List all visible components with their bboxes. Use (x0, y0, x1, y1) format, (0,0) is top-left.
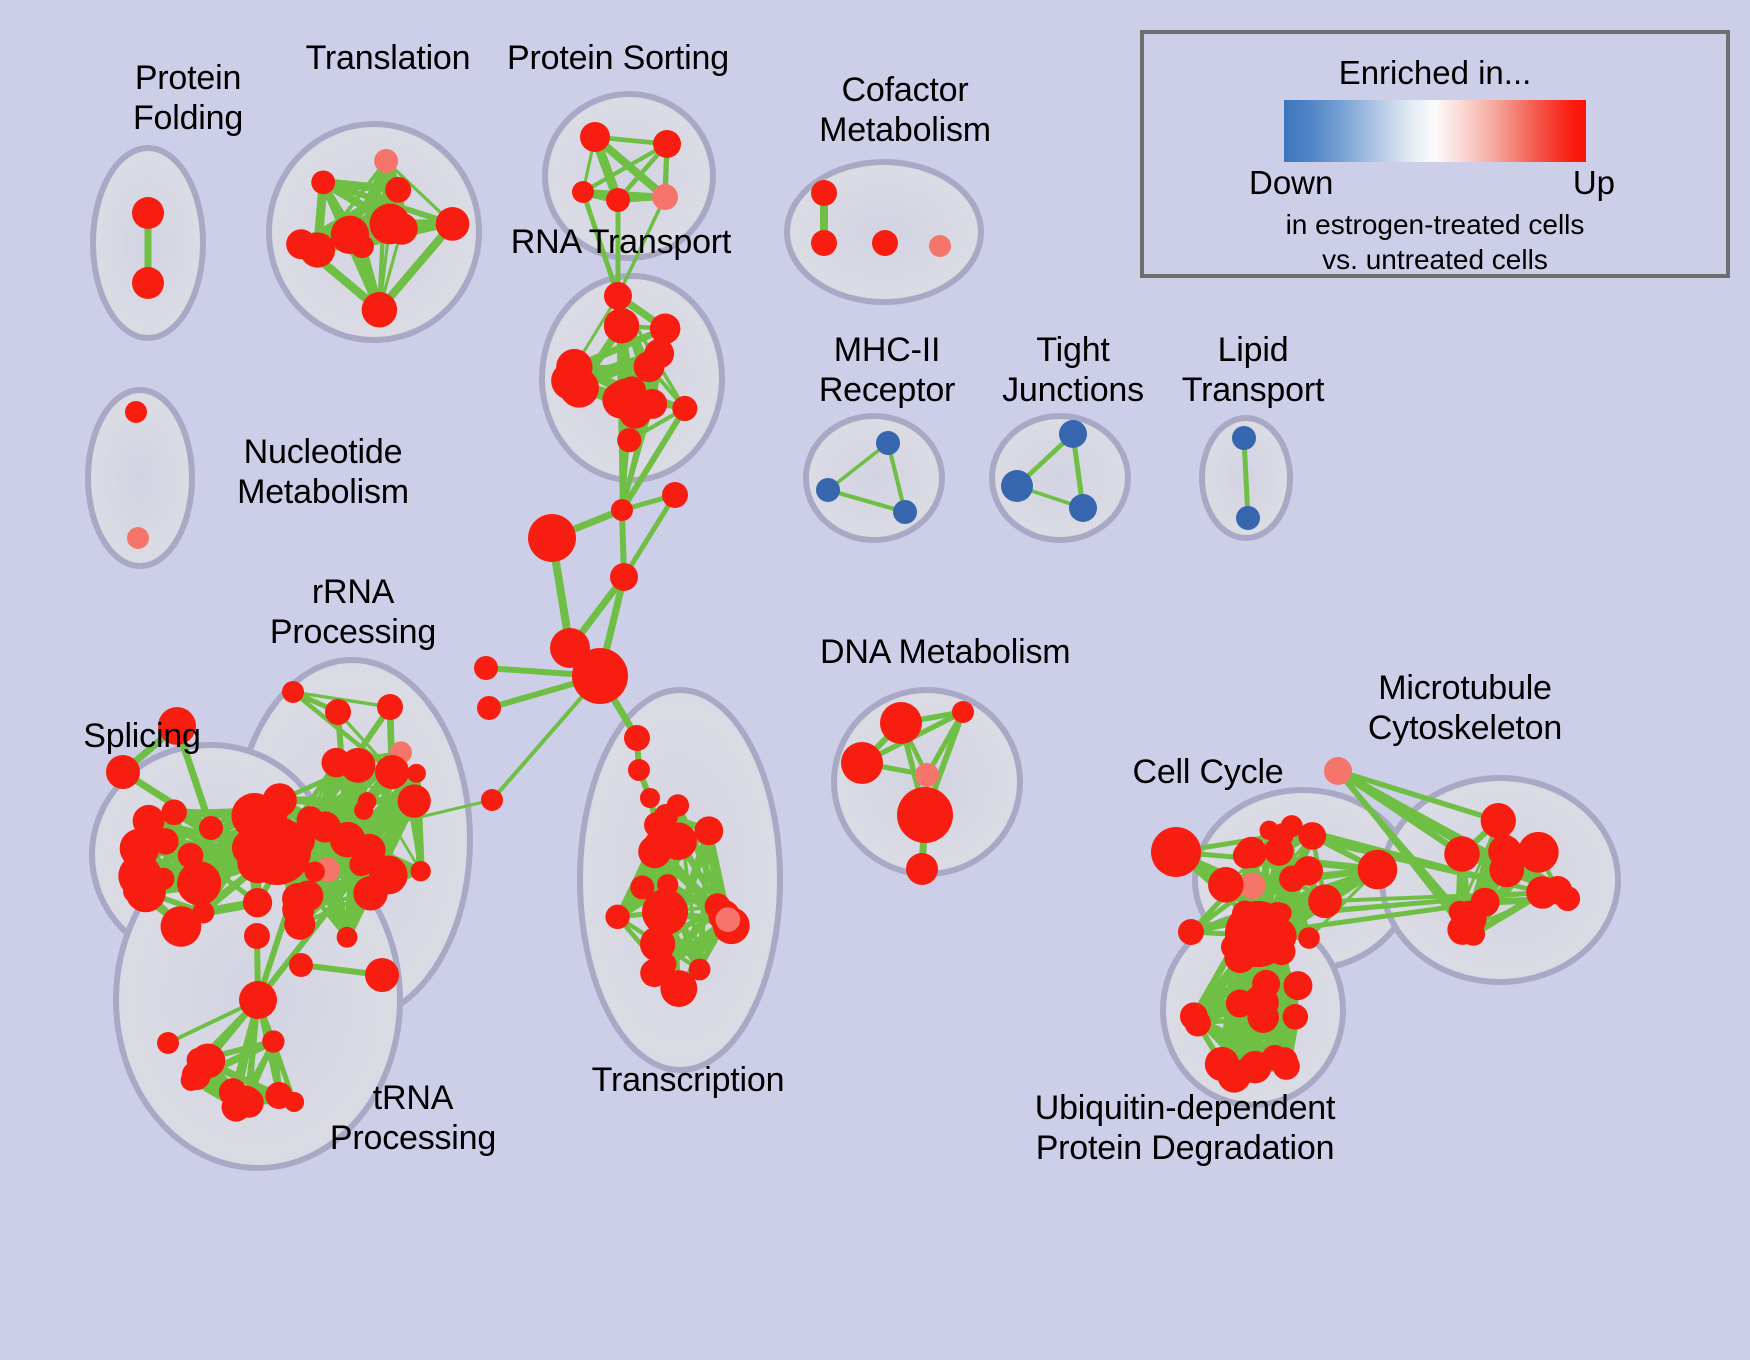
network-node (528, 514, 576, 562)
network-node (1151, 827, 1201, 877)
network-node (284, 1092, 304, 1112)
network-node (187, 1048, 212, 1073)
cluster-label-rna-transport: RNA Transport (506, 222, 736, 262)
network-node (398, 784, 431, 817)
network-node (605, 905, 629, 929)
network-node (642, 889, 688, 935)
network-node (1243, 985, 1279, 1021)
network-node (411, 861, 431, 881)
network-node (161, 906, 202, 947)
network-node (604, 308, 639, 343)
legend-box: Enriched in... Down Up in estrogen-treat… (1140, 30, 1730, 278)
network-node (436, 207, 470, 241)
legend-up-label: Up (1573, 164, 1615, 202)
network-node (1282, 1004, 1308, 1030)
network-node (611, 499, 633, 521)
network-node (377, 694, 403, 720)
network-figure: Protein FoldingTranslationProtein Sortin… (0, 0, 1750, 1360)
network-node (244, 923, 270, 949)
cluster-label-protein-sorting: Protein Sorting (503, 38, 733, 78)
network-node (243, 888, 272, 917)
cluster-label-transcription: Transcription (578, 1060, 798, 1100)
network-node (906, 853, 938, 885)
network-node (929, 235, 951, 257)
network-node (580, 122, 610, 152)
network-node (606, 188, 630, 212)
network-node (325, 699, 351, 725)
network-node (183, 873, 209, 899)
network-node (653, 130, 681, 158)
network-node (1488, 835, 1521, 868)
network-node (161, 800, 187, 826)
network-node (816, 478, 840, 502)
network-node (349, 853, 372, 876)
network-node (1236, 837, 1267, 868)
network-node (841, 742, 883, 784)
network-node (1264, 837, 1293, 866)
network-node (880, 702, 922, 744)
network-node (222, 1093, 251, 1122)
legend-title: Enriched in... (1144, 54, 1726, 92)
network-node (125, 401, 147, 423)
network-node (1555, 886, 1580, 911)
network-node (628, 759, 650, 781)
network-node (608, 379, 641, 412)
network-node (660, 970, 697, 1007)
network-node (474, 656, 498, 680)
cluster-label-trna-processing: tRNA Processing (308, 1078, 518, 1158)
cluster-label-cofactor-metabolism: Cofactor Metabolism (790, 70, 1020, 150)
cluster-label-splicing: Splicing (62, 716, 222, 756)
network-node (1308, 884, 1342, 918)
cluster-label-protein-folding: Protein Folding (88, 58, 288, 138)
network-node (915, 763, 939, 787)
cluster-label-nucleotide-metabolism: Nucleotide Metabolism (198, 432, 448, 512)
cluster-label-microtubule-cytoskeleton: Microtubule Cytoskeleton (1320, 668, 1610, 748)
network-node (282, 681, 304, 703)
cluster-ellipse-mhc-ii-receptor (806, 416, 942, 540)
network-node (178, 843, 204, 869)
network-node (650, 313, 681, 344)
network-node (872, 230, 898, 256)
network-node (1001, 470, 1033, 502)
network-node (1481, 803, 1516, 838)
network-node (374, 149, 398, 173)
legend-caption-line2: vs. untreated cells (1144, 243, 1726, 276)
network-node (644, 812, 670, 838)
network-node (286, 229, 316, 259)
network-node (262, 1030, 284, 1052)
network-node (893, 500, 917, 524)
network-node (716, 907, 741, 932)
network-node (572, 181, 594, 203)
network-node (811, 180, 837, 206)
network-node (1262, 1045, 1288, 1071)
network-node (353, 876, 387, 910)
network-node (572, 648, 628, 704)
network-node (1184, 1010, 1211, 1037)
network-node (897, 787, 953, 843)
network-node (1059, 420, 1087, 448)
network-node (322, 748, 351, 777)
network-node (1232, 426, 1256, 450)
network-node (1518, 832, 1559, 873)
network-node (876, 431, 900, 455)
network-node (624, 725, 650, 751)
network-node (604, 282, 632, 310)
network-node (157, 1032, 179, 1054)
network-node (1283, 971, 1312, 1000)
network-node (1260, 821, 1279, 840)
network-node (181, 1070, 202, 1091)
network-node (1225, 901, 1291, 967)
network-node (1208, 867, 1244, 903)
network-node (1294, 856, 1323, 885)
network-node (811, 230, 837, 256)
network-node (284, 909, 315, 940)
network-node (239, 981, 277, 1019)
network-node (127, 527, 149, 549)
network-node (375, 755, 409, 789)
network-node (617, 428, 641, 452)
network-node (952, 701, 974, 723)
network-node (1451, 901, 1487, 937)
network-node (652, 184, 678, 210)
network-node (1298, 927, 1320, 949)
network-node (477, 696, 501, 720)
network-node (311, 170, 335, 194)
network-node (362, 292, 397, 327)
network-node (1178, 919, 1204, 945)
cluster-label-lipid-transport: Lipid Transport (1158, 330, 1348, 410)
cluster-label-cell-cycle: Cell Cycle (1113, 752, 1303, 792)
network-node (365, 958, 399, 992)
network-node (1324, 757, 1352, 785)
network-node (386, 213, 418, 245)
network-node (634, 351, 665, 382)
network-node (132, 197, 164, 229)
network-node (1298, 822, 1326, 850)
network-node (243, 817, 311, 885)
network-node (310, 812, 341, 843)
network-node (662, 482, 688, 508)
network-node (106, 755, 140, 789)
network-node (637, 389, 667, 419)
network-node (407, 764, 426, 783)
network-node (338, 828, 360, 850)
network-node (152, 828, 178, 854)
network-node (694, 816, 723, 845)
network-node (132, 267, 164, 299)
legend-color-bar (1284, 100, 1586, 162)
network-node (1444, 836, 1480, 872)
network-node (289, 953, 313, 977)
legend-caption-line1: in estrogen-treated cells (1144, 208, 1726, 241)
network-node (1069, 494, 1097, 522)
cluster-label-ubiquitin-protein-degradation: Ubiquitin-dependent Protein Degradation (1000, 1088, 1370, 1168)
network-node (1236, 506, 1260, 530)
cluster-label-translation: Translation (288, 38, 488, 78)
network-node (199, 816, 223, 840)
network-node (610, 563, 638, 591)
network-node (1358, 850, 1398, 890)
cluster-label-tight-junctions: Tight Junctions (978, 330, 1168, 410)
network-node (481, 789, 503, 811)
cluster-label-rrna-processing: rRNA Processing (248, 572, 458, 652)
network-node (672, 396, 697, 421)
network-node (337, 927, 358, 948)
network-node (385, 177, 411, 203)
network-node (118, 854, 162, 898)
cluster-label-dna-metabolism: DNA Metabolism (820, 632, 1070, 672)
network-node (336, 227, 361, 252)
network-node (559, 368, 598, 407)
network-node (640, 788, 660, 808)
cluster-label-mhc-ii-receptor: MHC-II Receptor (792, 330, 982, 410)
legend-down-label: Down (1249, 164, 1333, 202)
network-node (358, 792, 377, 811)
